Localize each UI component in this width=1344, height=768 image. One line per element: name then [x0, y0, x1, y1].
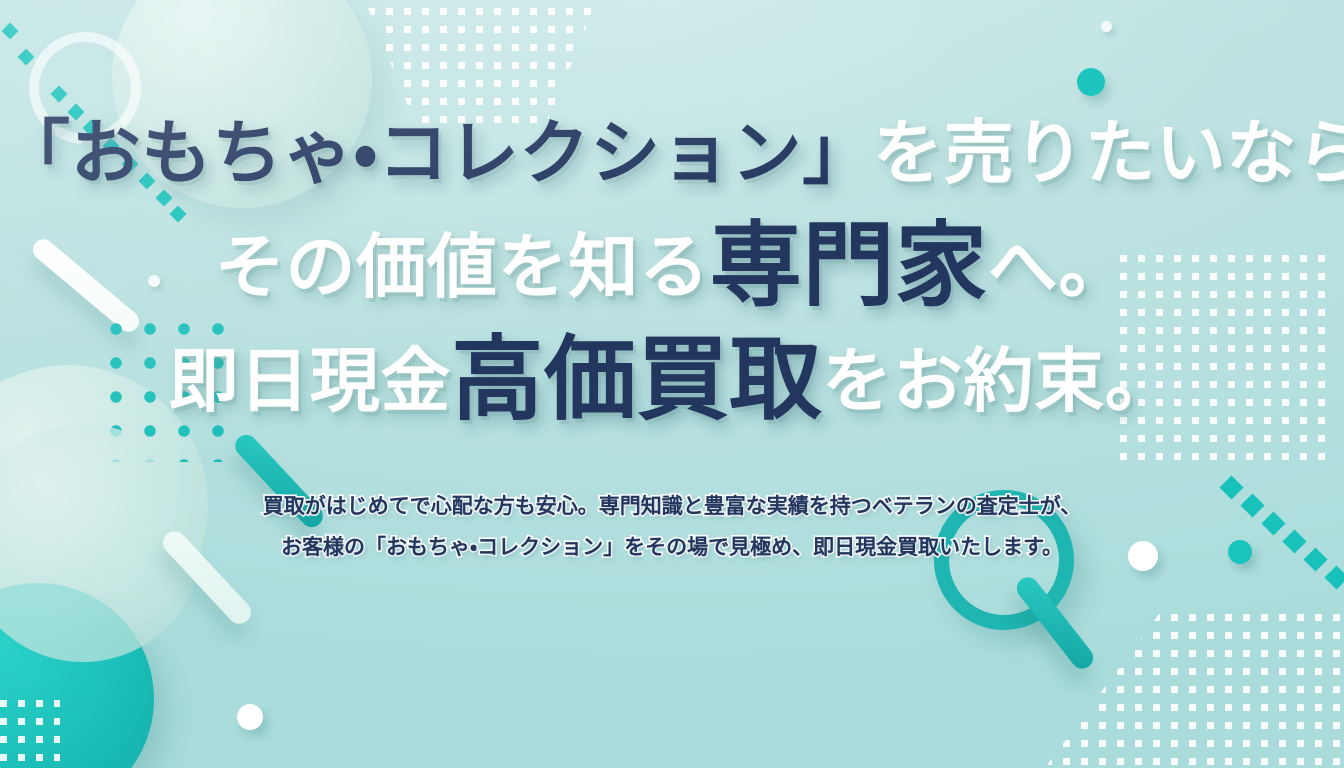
- white-square-grid-bottom-right: [1045, 614, 1344, 768]
- white-dot-top-right: [1101, 21, 1112, 32]
- headline-line-1-part-2: を売りたいなら、: [873, 112, 1344, 194]
- white-dot-near-ring: [1128, 541, 1158, 571]
- white-square-grid-top-center: [368, 8, 594, 130]
- white-square-grid-right: [1120, 255, 1332, 463]
- white-dot-bottom-left: [237, 704, 263, 730]
- headline-line-2-part-3: へ。: [988, 226, 1129, 308]
- headline-line-2-emphasis: 専門家: [710, 212, 988, 319]
- white-square-grid-bottom-left: [0, 700, 60, 768]
- hero-banner: 「おもちゃ・コレクション」を売りたいなら、 その価値を知る専門家へ。 即日現金高…: [0, 0, 1344, 768]
- white-dot-left-center: [148, 275, 160, 287]
- teal-bar-bottom-left: [231, 430, 328, 531]
- headline-line-3-emphasis: 高価買取: [451, 326, 822, 433]
- teal-dot-right: [1228, 540, 1252, 564]
- teal-dot-top-right: [1077, 68, 1105, 96]
- headline-line-2-part-1: その価値を知る: [215, 226, 710, 308]
- teal-diamond-trail-top-left: [0, 18, 220, 238]
